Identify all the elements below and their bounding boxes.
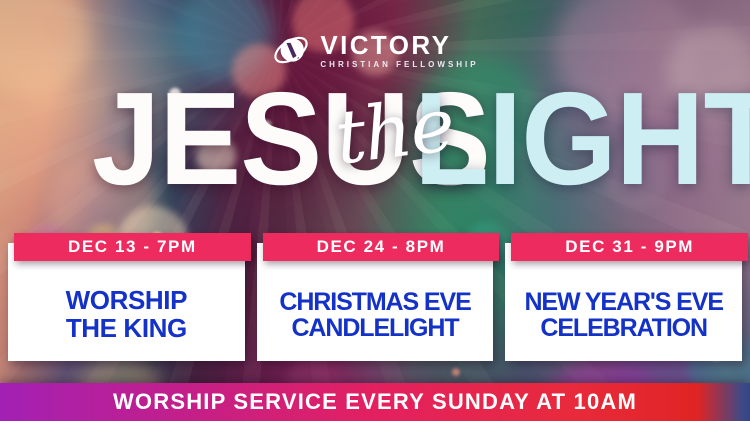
event-title-line-2: THE KING <box>66 315 187 343</box>
event-title-line-1: WORSHIP <box>66 287 187 315</box>
event-title-line-2: CANDLELIGHT <box>291 315 458 342</box>
event-card-body: CHRISTMAS EVE CANDLELIGHT <box>257 269 494 361</box>
event-card-body: NEW YEAR'S EVE CELEBRATION <box>505 269 742 361</box>
victory-globe-icon <box>271 30 311 70</box>
logo-wordmark: VICTORY CHRISTIAN FELLOWSHIP <box>320 32 478 69</box>
event-date-badge: DEC 24 - 8PM <box>263 233 500 261</box>
headline-group: JESUS LIGHT the <box>0 82 750 222</box>
event-date-badge: DEC 31 - 9PM <box>511 233 748 261</box>
service-time-banner: WORSHIP SERVICE EVERY SUNDAY AT 10AM <box>0 383 750 421</box>
event-card-list: DEC 13 - 7PM WORSHIP THE KING DEC 24 - 8… <box>8 243 742 361</box>
brand-logo: VICTORY CHRISTIAN FELLOWSHIP <box>0 30 750 70</box>
promotional-poster: VICTORY CHRISTIAN FELLOWSHIP JESUS LIGHT… <box>0 0 750 421</box>
event-date-badge: DEC 13 - 7PM <box>14 233 251 261</box>
headline-script-the: the <box>332 94 456 170</box>
event-card-body: WORSHIP THE KING <box>8 269 245 361</box>
logo-title: VICTORY <box>320 32 478 58</box>
event-card[interactable]: DEC 31 - 9PM NEW YEAR'S EVE CELEBRATION <box>505 243 742 361</box>
event-title-line-1: NEW YEAR'S EVE <box>524 289 722 316</box>
service-time-text: WORSHIP SERVICE EVERY SUNDAY AT 10AM <box>113 389 637 415</box>
event-title-line-2: CELEBRATION <box>540 315 707 342</box>
event-card[interactable]: DEC 13 - 7PM WORSHIP THE KING <box>8 243 245 361</box>
event-title-line-1: CHRISTMAS EVE <box>279 289 470 316</box>
headline-word-light: LIGHT <box>414 84 750 195</box>
event-card[interactable]: DEC 24 - 8PM CHRISTMAS EVE CANDLELIGHT <box>257 243 494 361</box>
